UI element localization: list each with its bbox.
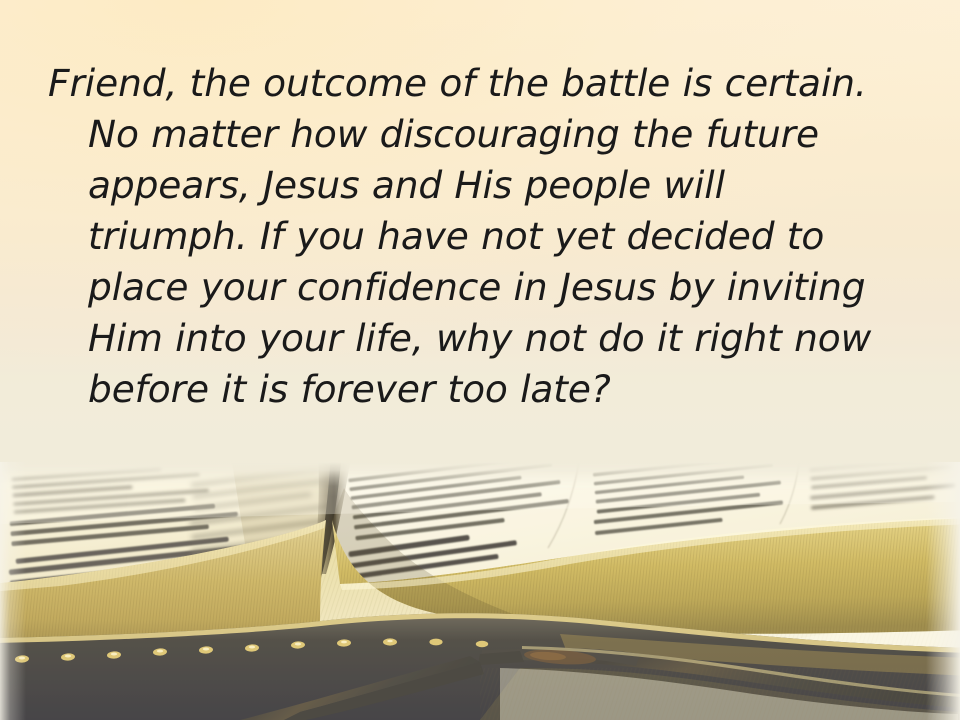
quote-block: Friend, the outcome of the battle is cer… [48,58,888,415]
open-book-photo-image [0,462,960,720]
quote-text: Friend, the outcome of the battle is cer… [48,58,888,415]
open-book-photo [0,462,960,720]
slide-canvas: Friend, the outcome of the battle is cer… [0,0,960,720]
open-book-illustration [0,462,960,720]
